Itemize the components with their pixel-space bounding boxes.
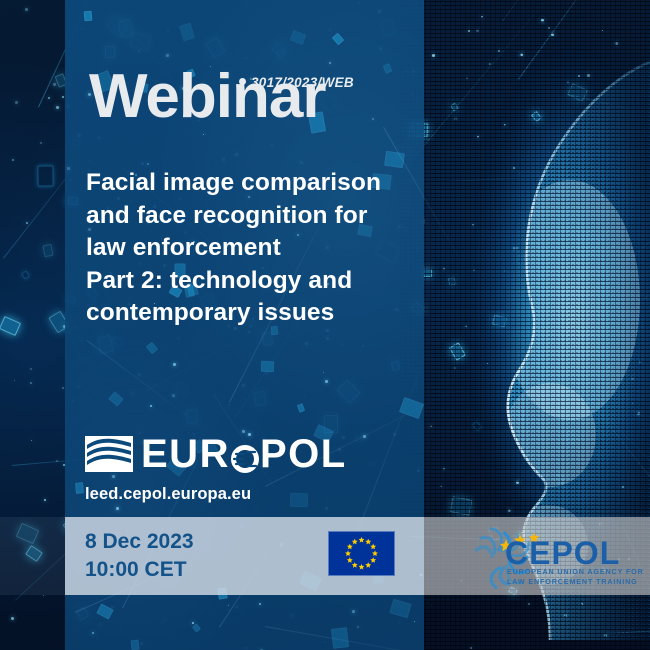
title-line: contemporary issues	[86, 297, 416, 330]
event-date: 8 Dec 2023	[85, 528, 194, 556]
bullet-dot-icon	[239, 78, 246, 85]
title-line: Part 2: technology and	[86, 265, 416, 298]
event-time: 10:00 CET	[85, 556, 194, 584]
europol-wordmark: EURPOL	[141, 434, 347, 474]
europol-waves-icon	[85, 435, 133, 473]
cepol-tagline-line1: EUROPEAN UNION AGENCY FOR	[507, 567, 644, 577]
europol-word-part2: POL	[260, 434, 347, 474]
webinar-poster: Webinar 3017/2023/WEB Facial image compa…	[0, 0, 650, 650]
cepol-wordmark: CEPOL	[505, 537, 620, 569]
webinar-code: 3017/2023/WEB	[239, 75, 354, 90]
cepol-tagline: EUROPEAN UNION AGENCY FOR LAW ENFORCEMEN…	[507, 567, 644, 587]
schedule-block: 8 Dec 2023 10:00 CET	[85, 528, 194, 583]
title-line: Facial image comparison	[86, 167, 416, 200]
europol-logo: EURPOL	[85, 434, 347, 474]
webinar-url[interactable]: leed.cepol.europa.eu	[85, 485, 251, 504]
eu-flag-icon	[328, 531, 395, 576]
europol-stylised-o-icon	[231, 440, 259, 468]
webinar-code-text: 3017/2023/WEB	[251, 75, 354, 90]
title-line: and face recognition for	[86, 200, 416, 233]
header-block: Webinar 3017/2023/WEB	[89, 66, 325, 128]
cepol-tagline-line2: LAW ENFORCEMENT TRAINING	[507, 577, 644, 587]
webinar-title: Facial image comparison and face recogni…	[86, 167, 416, 330]
europol-word-part1: EUR	[141, 434, 230, 474]
cepol-logo: CEPOL EUROPEAN UNION AGENCY FOR LAW ENFO…	[449, 523, 641, 589]
title-line: law enforcement	[86, 232, 416, 265]
